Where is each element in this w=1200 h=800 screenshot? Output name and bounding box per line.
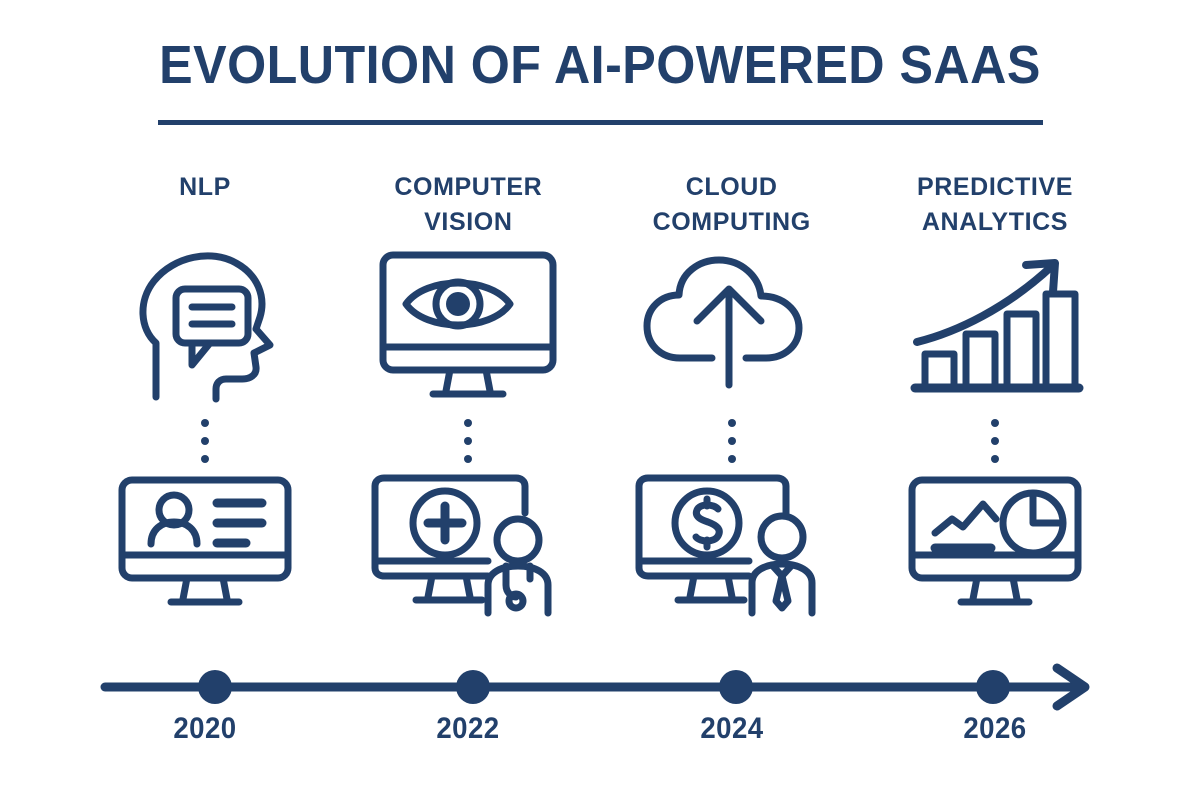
head-speech-bubble-icon [130,242,280,412]
connector-dot [991,455,999,463]
title-block: EVOLUTION OF AI-POWERED SAAS [0,38,1200,125]
milestone-label-line2: VISION [394,205,542,240]
timeline-marker-dot [456,670,490,704]
connector-dot [728,455,736,463]
milestone-label-2024: CLOUD COMPUTING [653,170,811,242]
milestone-label-2020: NLP [179,170,231,242]
milestone-column-2022[interactable]: COMPUTER VISION [358,170,578,620]
milestone-column-2024[interactable]: CLOUD COMPUTING [622,170,842,620]
connector-dots-2026 [991,412,999,470]
timeline-marker-dot [719,670,753,704]
connector-dots-2020 [201,412,209,470]
milestone-label-line1: CLOUD [653,170,811,205]
milestone-label-line1: PREDICTIVE [917,170,1073,205]
monitor-user-profile-icon [117,470,293,620]
timeline-year-labels: 2020 2022 2024 2026 [95,712,1105,746]
milestone-label-line2: ANALYTICS [917,205,1073,240]
milestone-column-2020[interactable]: NLP [95,170,315,620]
connector-dot [464,455,472,463]
connector-dot [728,419,736,427]
timeline-marker-dot [198,670,232,704]
connector-dot [991,437,999,445]
cloud-upload-arrow-icon [642,242,822,412]
connector-dots-2022 [464,412,472,470]
timeline-marker-dot [976,670,1010,704]
timeline-year-2020: 2020 [104,712,306,746]
connector-dot [728,437,736,445]
timeline-year-2022: 2022 [367,712,569,746]
milestone-label-2022: COMPUTER VISION [394,170,542,242]
connector-dot [464,419,472,427]
monitor-line-pie-chart-icon [907,470,1083,620]
connector-dot [201,419,209,427]
page-title: EVOLUTION OF AI-POWERED SAAS [42,38,1158,92]
connector-dot [201,455,209,463]
connector-dots-2024 [728,412,736,470]
monitor-eye-icon [378,242,558,412]
milestone-column-2026[interactable]: PREDICTIVE ANALYTICS [885,170,1105,620]
milestone-label-line1: COMPUTER [394,170,542,205]
monitor-dollar-businessman-icon [634,470,830,620]
connector-dot [991,419,999,427]
timeline-year-2026: 2026 [894,712,1096,746]
milestone-label-line2: COMPUTING [653,205,811,240]
connector-dot [464,437,472,445]
connector-dot [201,437,209,445]
title-divider [158,120,1043,125]
monitor-medical-cross-doctor-icon [370,470,566,620]
growth-bar-chart-arrow-icon [907,242,1082,412]
milestone-label-2026: PREDICTIVE ANALYTICS [917,170,1073,242]
timeline-year-2024: 2024 [630,712,832,746]
milestone-label-line1: NLP [179,170,231,205]
milestone-columns: NLP [95,170,1105,620]
